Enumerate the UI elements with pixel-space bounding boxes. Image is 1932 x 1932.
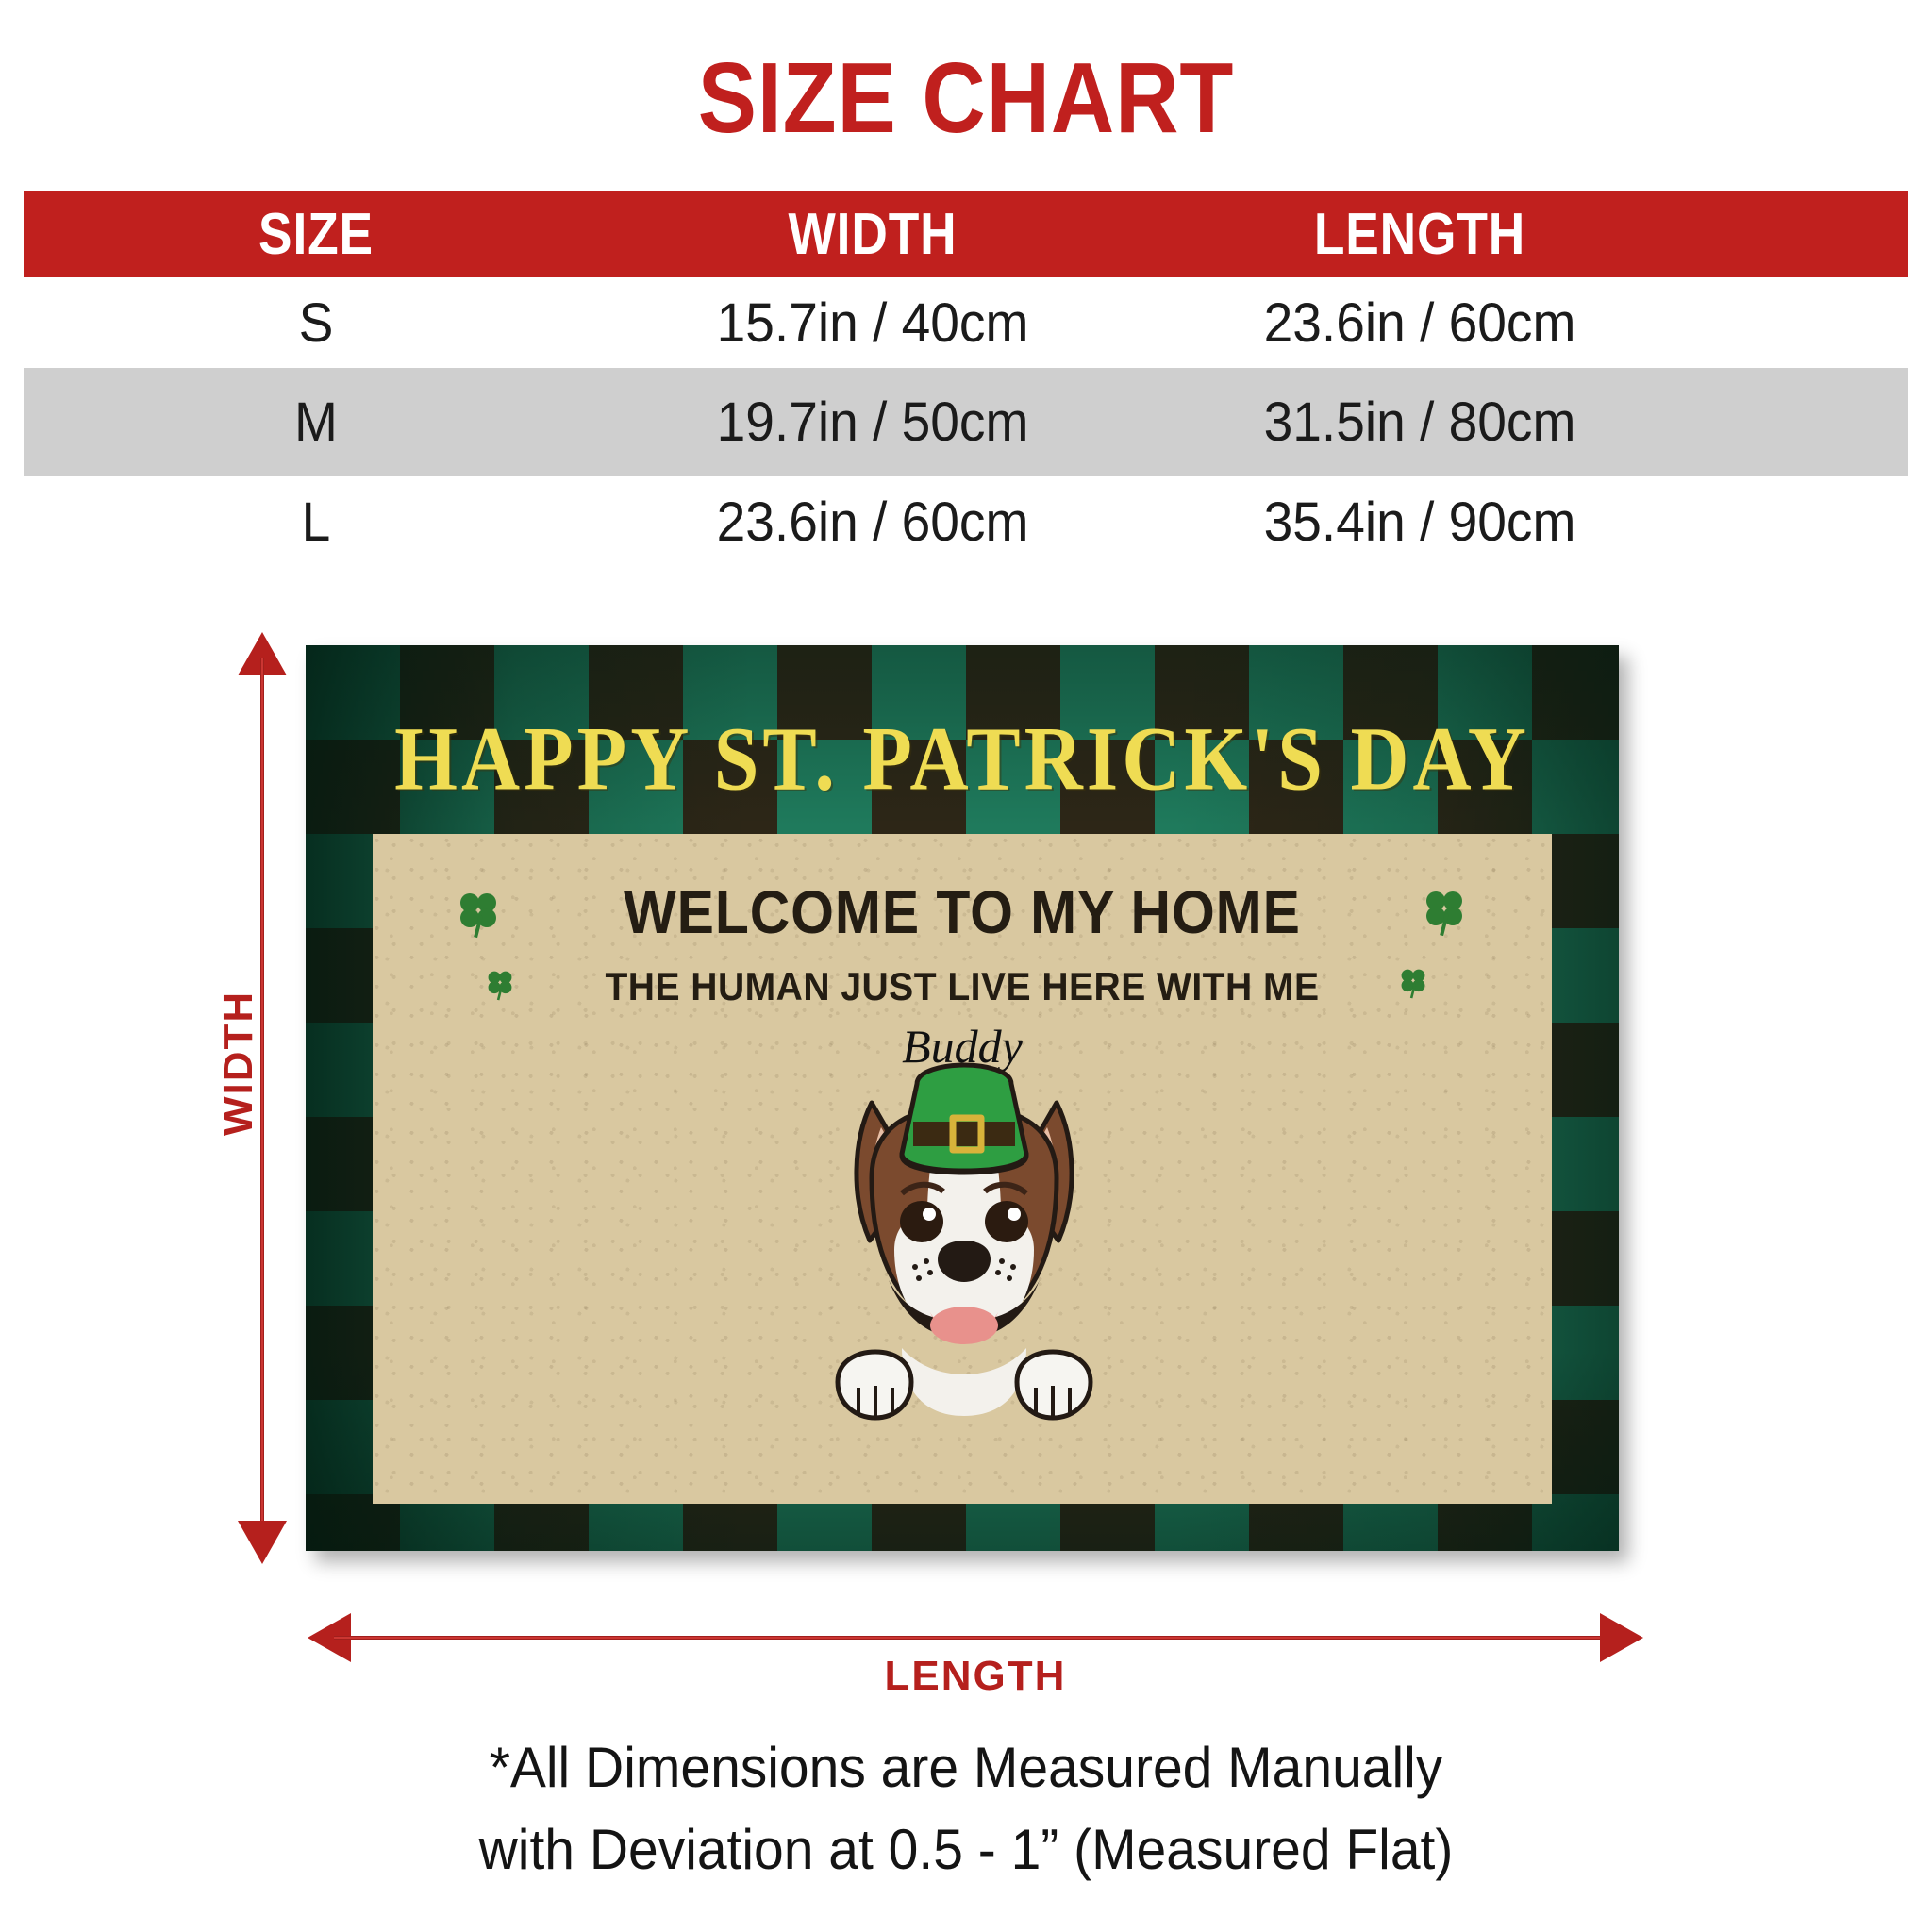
cell-width: 19.7in / 50cm	[622, 391, 1124, 454]
disclaimer-line-2: with Deviation at 0.5 - 1” (Measured Fla…	[48, 1808, 1884, 1890]
arrow-down-icon	[238, 1521, 287, 1564]
measurement-disclaimer: *All Dimensions are Measured Manually wi…	[48, 1726, 1884, 1890]
width-dimension-arrow: WIDTH	[219, 645, 304, 1551]
cell-size: M	[39, 391, 594, 454]
leprechaun-hat-icon	[902, 1065, 1026, 1173]
length-label: LENGTH	[321, 1653, 1630, 1700]
size-table: SIZE WIDTH LENGTH S 15.7in / 40cm 23.6in…	[24, 191, 1908, 567]
cell-length: 31.5in / 80cm	[1151, 391, 1689, 454]
table-header-row: SIZE WIDTH LENGTH	[24, 191, 1908, 277]
cell-length: 23.6in / 60cm	[1151, 291, 1689, 355]
clover-icon	[484, 968, 516, 1002]
column-header-size: SIZE	[64, 201, 567, 268]
cell-size: L	[39, 491, 594, 554]
clover-icon	[1420, 887, 1469, 938]
length-dimension-arrow: LENGTH	[321, 1594, 1630, 1679]
column-header-width: WIDTH	[645, 201, 1100, 268]
page-title: SIZE CHART	[116, 42, 1816, 156]
disclaimer-line-1: *All Dimensions are Measured Manually	[48, 1726, 1884, 1808]
cell-length: 35.4in / 90cm	[1151, 491, 1689, 554]
cell-width: 23.6in / 60cm	[622, 491, 1124, 554]
dog-illustration	[804, 1065, 1124, 1442]
table-row: L 23.6in / 60cm 35.4in / 90cm	[24, 476, 1908, 567]
size-chart-page: SIZE CHART SIZE WIDTH LENGTH S 15.7in / …	[0, 0, 1932, 1932]
column-header-length: LENGTH	[1176, 201, 1663, 268]
table-row: S 15.7in / 40cm 23.6in / 60cm	[24, 277, 1908, 368]
clover-icon	[454, 889, 503, 940]
doormat-image: HAPPY ST. PATRICK'S DAY WELCOME TO MY HO…	[306, 645, 1619, 1551]
width-label: WIDTH	[215, 994, 262, 1136]
table-row: M 19.7in / 50cm 31.5in / 80cm	[24, 368, 1908, 476]
product-illustration-area: WIDTH HAPPY ST. PATRICK'S DAY WELCOME TO…	[0, 623, 1932, 1566]
mat-welcome-text: WELCOME TO MY HOME	[420, 877, 1505, 947]
clover-icon	[1397, 966, 1429, 1000]
mat-headline-text: HAPPY ST. PATRICK'S DAY	[306, 706, 1619, 811]
arrow-shaft	[334, 1636, 1617, 1640]
cell-width: 15.7in / 40cm	[622, 291, 1124, 355]
cell-size: S	[39, 291, 594, 355]
mat-subtitle-text: THE HUMAN JUST LIVE HERE WITH ME	[414, 964, 1511, 1009]
